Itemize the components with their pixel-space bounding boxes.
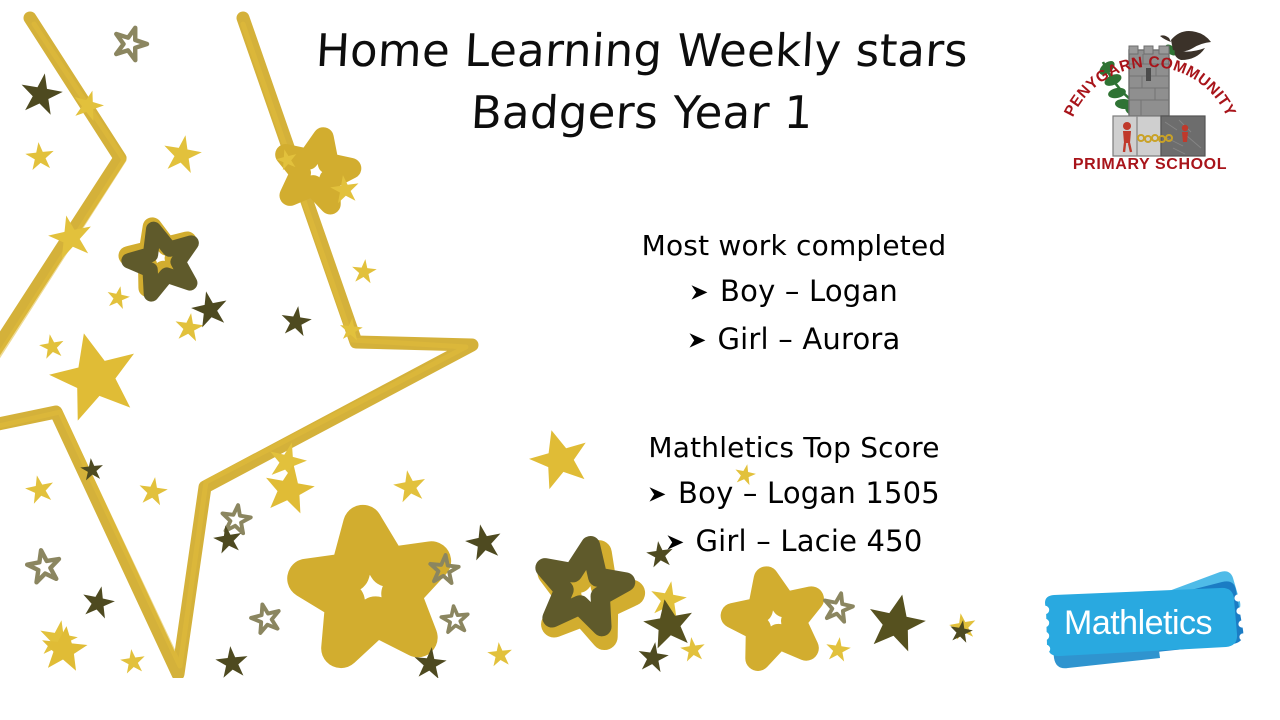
arrowhead-bullet-icon [690, 269, 720, 316]
list-item: Boy – Logan 1505 [568, 470, 1020, 518]
slide-canvas: Home Learning Weekly stars Badgers Year … [0, 0, 1280, 720]
list-item-label: Boy – Logan 1505 [678, 476, 940, 510]
list-item-label: Boy – Logan [720, 274, 898, 308]
slide-title: Home Learning Weekly stars Badgers Year … [262, 20, 1022, 144]
title-line-2: Badgers Year 1 [260, 82, 1023, 144]
title-line-1: Home Learning Weekly stars [260, 20, 1023, 82]
award-group-most-work: Most work completed Boy – Logan Girl – A… [568, 224, 1020, 364]
arrowhead-bullet-icon [666, 519, 696, 566]
list-item: Girl – Lacie 450 [568, 518, 1020, 566]
awards-content: Most work completed Boy – Logan Girl – A… [568, 224, 1020, 566]
list-item: Girl – Aurora [568, 316, 1020, 364]
arrowhead-bullet-icon [648, 471, 678, 518]
list-item-label: Girl – Aurora [718, 322, 901, 356]
award-heading: Most work completed [568, 224, 1020, 268]
arrowhead-bullet-icon [688, 317, 718, 364]
mathletics-wordmark: Mathletics [1064, 604, 1212, 642]
award-group-mathletics: Mathletics Top Score Boy – Logan 1505 Gi… [568, 426, 1020, 566]
crest-bottom-text: PRIMARY SCHOOL [1073, 156, 1227, 172]
mathletics-logo: Mathletics [1024, 568, 1268, 674]
penygarn-community-primary-school-crest: PENYGARN COMMUNITY PRIMARY SCHOOL [1055, 12, 1245, 172]
list-item-label: Girl – Lacie 450 [696, 524, 923, 558]
list-item: Boy – Logan [568, 268, 1020, 316]
award-heading: Mathletics Top Score [568, 426, 1020, 470]
